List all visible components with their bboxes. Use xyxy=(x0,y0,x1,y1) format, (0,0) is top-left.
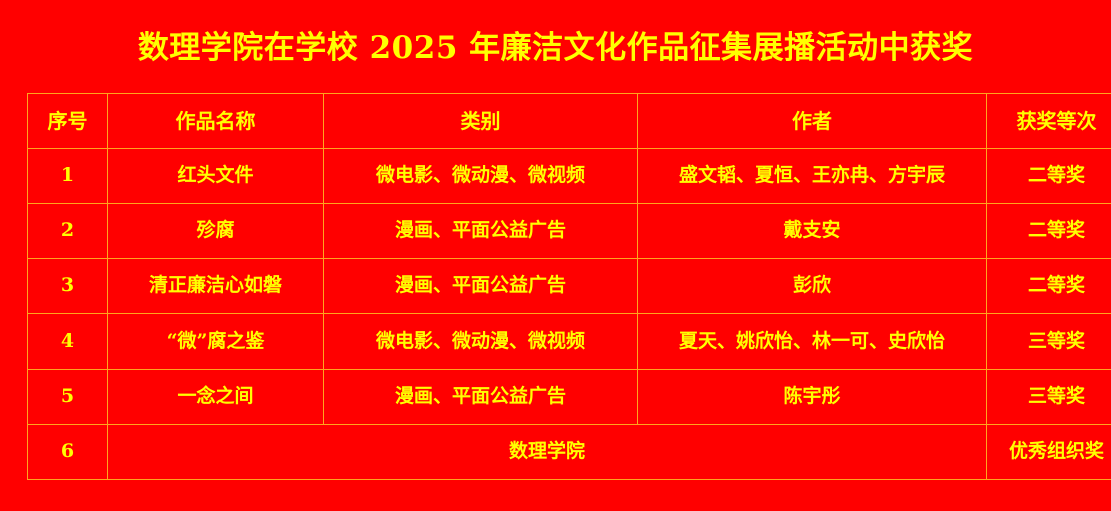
table-row: 5 一念之间 漫画、平面公益广告 陈宇彤 三等奖 xyxy=(28,369,1111,424)
cell-index: 4 xyxy=(28,314,108,369)
cell-award: 二等奖 xyxy=(987,204,1111,259)
cell-authors: 夏天、姚欣怡、林一可、史欣怡 xyxy=(638,314,987,369)
cell-category: 漫画、平面公益广告 xyxy=(324,204,638,259)
table-body: 1 红头文件 微电影、微动漫、微视频 盛文韬、夏恒、王亦冉、方宇辰 二等奖 2 … xyxy=(28,149,1111,480)
cell-title: 清正廉洁心如磐 xyxy=(108,259,324,314)
column-header-authors: 作者 xyxy=(638,94,987,149)
award-table-container: 序号 作品名称 类别 作者 获奖等次 1 红头文件 微电影、微动漫、微视频 盛文… xyxy=(27,93,1081,480)
cell-award: 优秀组织奖 xyxy=(987,424,1111,479)
table-header-row: 序号 作品名称 类别 作者 获奖等次 xyxy=(28,94,1111,149)
cell-index: 5 xyxy=(28,369,108,424)
cell-index: 1 xyxy=(28,149,108,204)
cell-authors: 彭欣 xyxy=(638,259,987,314)
table-row: 3 清正廉洁心如磐 漫画、平面公益广告 彭欣 二等奖 xyxy=(28,259,1111,314)
table-row: 4 “微”腐之鉴 微电影、微动漫、微视频 夏天、姚欣怡、林一可、史欣怡 三等奖 xyxy=(28,314,1111,369)
cell-title: “微”腐之鉴 xyxy=(108,314,324,369)
cell-category: 微电影、微动漫、微视频 xyxy=(324,314,638,369)
table-row-organization: 6 数理学院 优秀组织奖 xyxy=(28,424,1111,479)
cell-title: 殄腐 xyxy=(108,204,324,259)
cell-organization-name: 数理学院 xyxy=(108,424,987,479)
cell-award: 二等奖 xyxy=(987,149,1111,204)
cell-category: 漫画、平面公益广告 xyxy=(324,259,638,314)
table-row: 2 殄腐 漫画、平面公益广告 戴支安 二等奖 xyxy=(28,204,1111,259)
column-header-title: 作品名称 xyxy=(108,94,324,149)
cell-category: 微电影、微动漫、微视频 xyxy=(324,149,638,204)
cell-authors: 陈宇彤 xyxy=(638,369,987,424)
cell-title: 一念之间 xyxy=(108,369,324,424)
cell-index: 6 xyxy=(28,424,108,479)
column-header-category: 类别 xyxy=(324,94,638,149)
table-header: 序号 作品名称 类别 作者 获奖等次 xyxy=(28,94,1111,149)
table-row: 1 红头文件 微电影、微动漫、微视频 盛文韬、夏恒、王亦冉、方宇辰 二等奖 xyxy=(28,149,1111,204)
cell-title: 红头文件 xyxy=(108,149,324,204)
cell-award: 三等奖 xyxy=(987,369,1111,424)
cell-index: 2 xyxy=(28,204,108,259)
cell-authors: 戴支安 xyxy=(638,204,987,259)
cell-index: 3 xyxy=(28,259,108,314)
cell-award: 三等奖 xyxy=(987,314,1111,369)
title-bar: 数理学院在学校 2025 年廉洁文化作品征集展播活动中获奖 xyxy=(0,22,1111,74)
award-table: 序号 作品名称 类别 作者 获奖等次 1 红头文件 微电影、微动漫、微视频 盛文… xyxy=(27,93,1111,480)
column-header-award: 获奖等次 xyxy=(987,94,1111,149)
cell-award: 二等奖 xyxy=(987,259,1111,314)
cell-category: 漫画、平面公益广告 xyxy=(324,369,638,424)
award-poster: 数理学院在学校 2025 年廉洁文化作品征集展播活动中获奖 序号 作品名称 类别… xyxy=(0,0,1111,511)
cell-authors: 盛文韬、夏恒、王亦冉、方宇辰 xyxy=(638,149,987,204)
page-title: 数理学院在学校 2025 年廉洁文化作品征集展播活动中获奖 xyxy=(138,33,973,64)
column-header-index: 序号 xyxy=(28,94,108,149)
